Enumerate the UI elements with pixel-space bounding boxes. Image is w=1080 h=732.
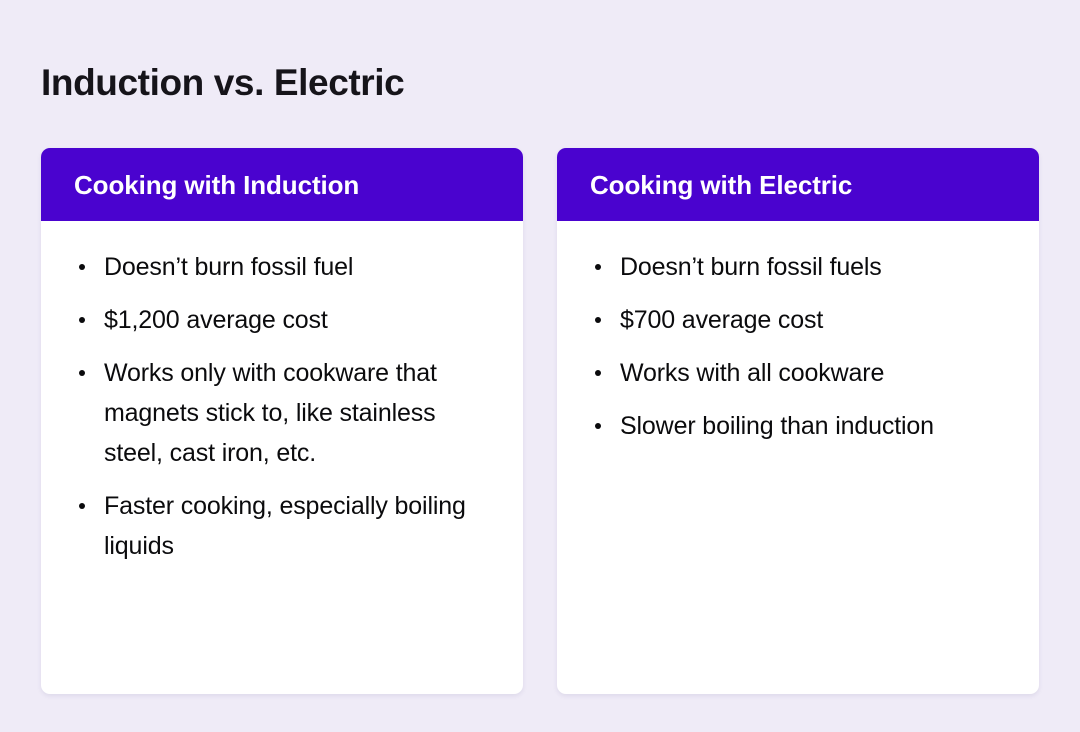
list-item-label: Doesn’t burn fossil fuel <box>104 253 353 281</box>
bullet-dot-icon <box>595 423 601 429</box>
card-body-electric: Doesn’t burn fossil fuels $700 average c… <box>557 221 1039 694</box>
comparison-cards: Cooking with Induction Doesn’t burn foss… <box>41 148 1040 694</box>
bullet-dot-icon <box>79 503 85 509</box>
list-item-label: Works with all cookware <box>620 359 884 387</box>
card-header-title: Cooking with Electric <box>590 170 852 200</box>
list-item: $1,200 average cost <box>71 300 493 340</box>
card-induction: Cooking with Induction Doesn’t burn foss… <box>41 148 523 694</box>
bullet-dot-icon <box>79 370 85 376</box>
bullet-dot-icon <box>595 264 601 270</box>
list-item-label: Works only with cookware that magnets st… <box>104 359 437 467</box>
bullet-dot-icon <box>79 264 85 270</box>
page-title: Induction vs. Electric <box>41 60 404 106</box>
bullet-dot-icon <box>79 317 85 323</box>
card-header-title: Cooking with Induction <box>74 170 359 200</box>
bullet-list-electric: Doesn’t burn fossil fuels $700 average c… <box>587 247 1009 446</box>
comparison-page: Induction vs. Electric Cooking with Indu… <box>0 0 1080 732</box>
list-item-label: $700 average cost <box>620 306 823 334</box>
list-item: Faster cooking, especially boiling liqui… <box>71 486 493 566</box>
bullet-dot-icon <box>595 317 601 323</box>
list-item-label: Doesn’t burn fossil fuels <box>620 253 882 281</box>
card-header-induction: Cooking with Induction <box>41 148 523 221</box>
list-item: $700 average cost <box>587 300 1009 340</box>
list-item-label: $1,200 average cost <box>104 306 328 334</box>
list-item: Doesn’t burn fossil fuel <box>71 247 493 287</box>
card-body-induction: Doesn’t burn fossil fuel $1,200 average … <box>41 221 523 694</box>
card-header-electric: Cooking with Electric <box>557 148 1039 221</box>
list-item: Doesn’t burn fossil fuels <box>587 247 1009 287</box>
bullet-list-induction: Doesn’t burn fossil fuel $1,200 average … <box>71 247 493 566</box>
list-item: Slower boiling than induction <box>587 406 1009 446</box>
list-item: Works only with cookware that magnets st… <box>71 353 493 473</box>
list-item-label: Slower boiling than induction <box>620 412 934 440</box>
list-item-label: Faster cooking, especially boiling liqui… <box>104 492 466 560</box>
card-electric: Cooking with Electric Doesn’t burn fossi… <box>557 148 1039 694</box>
bullet-dot-icon <box>595 370 601 376</box>
list-item: Works with all cookware <box>587 353 1009 393</box>
